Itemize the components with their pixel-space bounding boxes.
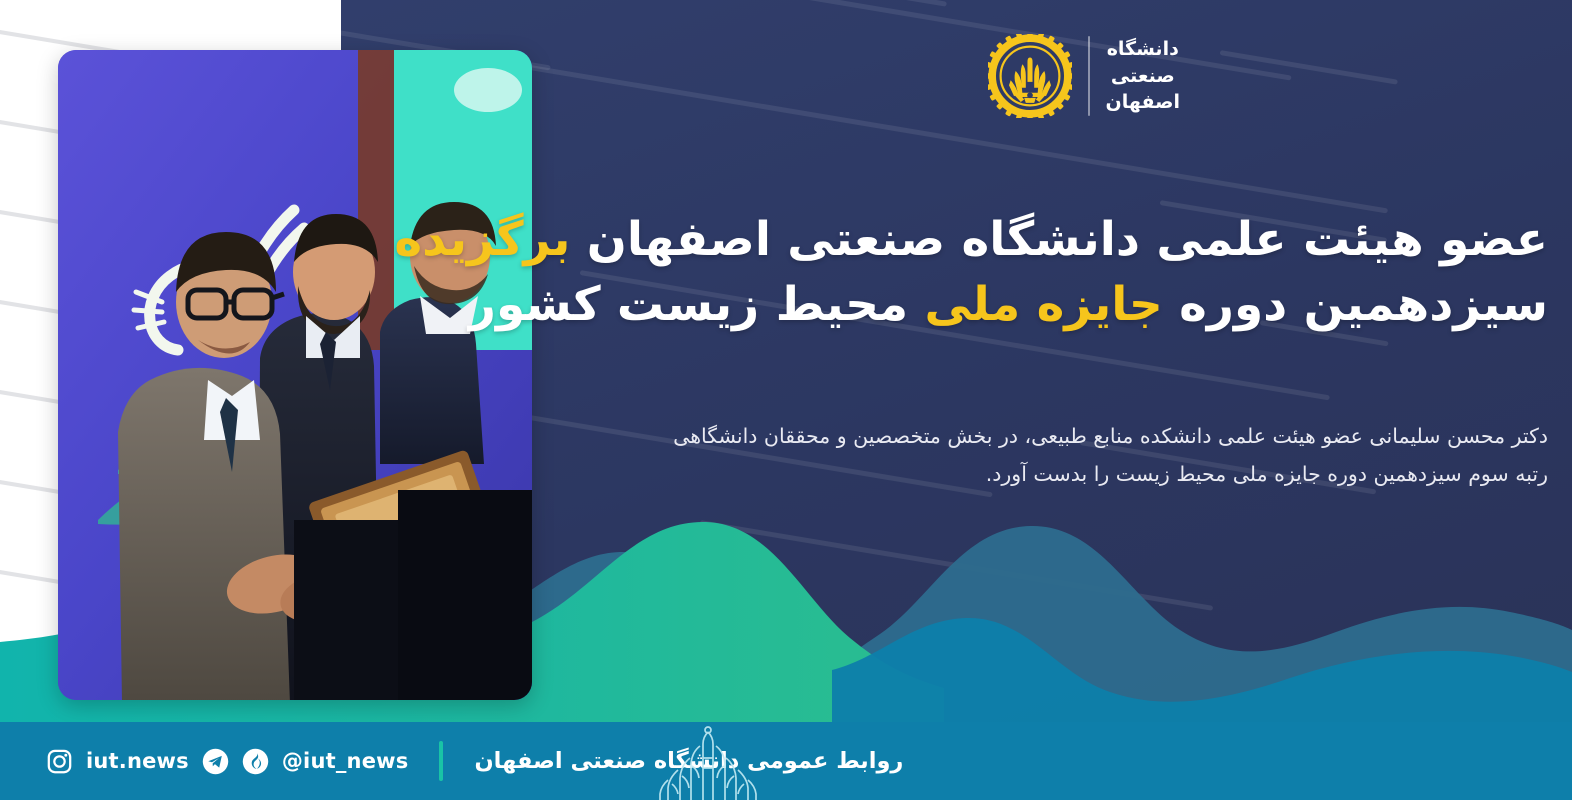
headline-line-2: سیزدهمین دوره جایزه ملی محیط زیست کشور	[538, 273, 1548, 338]
news-card: دانشگاه صنعتی اصفهان	[0, 0, 1572, 800]
logo-wordmark: دانشگاه صنعتی اصفهان	[1106, 36, 1180, 117]
gear-emblem-icon	[988, 34, 1072, 118]
footer-bar: iut.news @iut_news روابط عمومی دانشگاه ص…	[0, 722, 1572, 800]
body-text: دکتر محسن سلیمانی عضو هیئت علمی دانشکده …	[538, 418, 1548, 494]
body-line-2: رتبه سوم سیزدهمین دوره جایزه ملی محیط زی…	[538, 456, 1548, 494]
logo-divider	[1088, 36, 1090, 116]
headline-line-2-text-a: سیزدهمین دوره	[1163, 277, 1548, 332]
award-ceremony-photo	[58, 50, 532, 700]
isfahan-minaret-ornament-icon	[648, 724, 768, 800]
telegram-handle[interactable]: @iut_news	[282, 749, 409, 773]
headline-line-1-text: عضو هیئت علمی دانشگاه صنعتی اصفهان	[570, 212, 1548, 267]
headline-line-1: عضو هیئت علمی دانشگاه صنعتی اصفهان برگزی…	[538, 208, 1548, 273]
bale-icon[interactable]	[242, 748, 269, 775]
headline-highlight-1: برگزیده	[394, 212, 570, 267]
headline: عضو هیئت علمی دانشگاه صنعتی اصفهان برگزی…	[538, 208, 1548, 338]
instagram-handle[interactable]: iut.news	[86, 749, 189, 773]
logo-lockup: دانشگاه صنعتی اصفهان	[988, 34, 1180, 118]
telegram-icon[interactable]	[202, 748, 229, 775]
logo-line-3: اصفهان	[1106, 89, 1180, 116]
logo-line-1: دانشگاه	[1106, 36, 1180, 63]
footer-divider	[439, 741, 443, 781]
body-line-1: دکتر محسن سلیمانی عضو هیئت علمی دانشکده …	[538, 418, 1548, 456]
headline-highlight-2: جایزه ملی	[924, 277, 1162, 332]
instagram-icon[interactable]	[46, 748, 73, 775]
logo-line-2: صنعتی	[1106, 63, 1180, 90]
headline-line-2-text-b: محیط زیست کشور	[469, 277, 925, 332]
